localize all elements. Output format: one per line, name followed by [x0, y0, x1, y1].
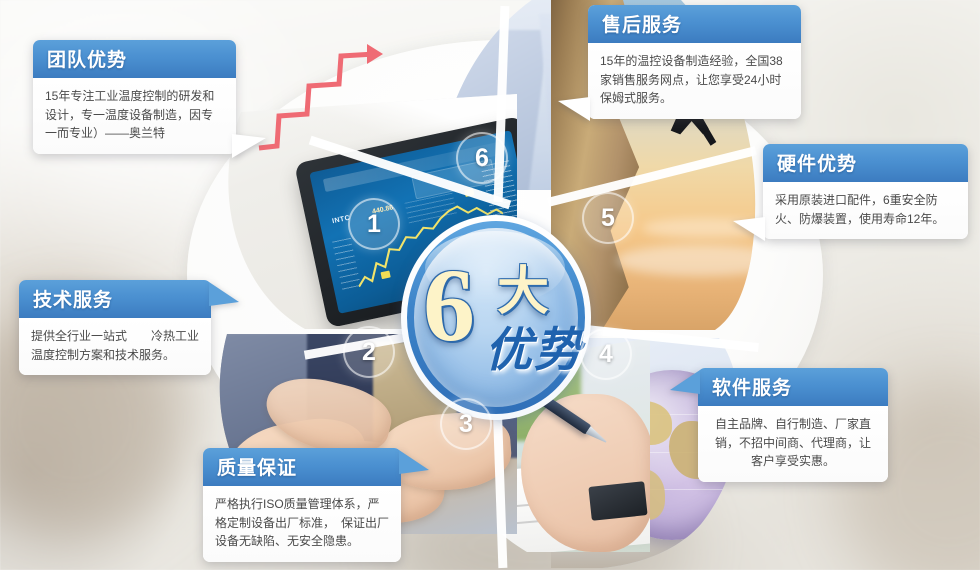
callout-title-software-service: 软件服务 — [698, 368, 888, 406]
callout-body-team-advantage: 15年专注工业温度控制的研发和设计，专一温度设备制造，因专一而专业）——奥兰特 — [33, 78, 236, 154]
segment-badge-6[interactable]: 6 — [456, 132, 508, 184]
segment-badge-3[interactable]: 3 — [440, 398, 492, 450]
infographic-canvas: INTC 440.86 — [0, 0, 980, 570]
logo-number-six: 6 — [423, 259, 475, 353]
callout-body-technical-service: 提供全行业一站式 冷热工业温度控制方案和技术服务。 — [19, 318, 211, 375]
callout-hardware-advantage[interactable]: 硬件优势 采用原装进口配件，6重安全防火、防爆装置，使用寿命12年。 — [763, 144, 968, 239]
callout-tail — [232, 134, 266, 158]
center-logo: 6 大 优势 — [401, 215, 591, 420]
callout-technical-service[interactable]: 技术服务 提供全行业一站式 冷热工业温度控制方案和技术服务。 — [19, 280, 211, 375]
callout-software-service[interactable]: 软件服务 自主品牌、自行制造、厂家直销，不招中间商、代理商，让客户享受实惠。 — [698, 368, 888, 482]
callout-tail — [399, 450, 429, 474]
red-trend-line-decoration — [255, 42, 385, 152]
callout-tail — [558, 97, 590, 121]
callout-quality-guarantee[interactable]: 质量保证 严格执行ISO质量管理体系，严格定制设备出厂标准， 保证出厂设备无缺陷… — [203, 448, 401, 562]
callout-body-quality-guarantee: 严格执行ISO质量管理体系，严格定制设备出厂标准， 保证出厂设备无缺陷、无安全隐… — [203, 486, 401, 562]
logo-text-youshi: 优势 — [485, 311, 583, 380]
segment-badge-1[interactable]: 1 — [348, 198, 400, 250]
segment-badge-4[interactable]: 4 — [580, 328, 632, 380]
callout-title-hardware-advantage: 硬件优势 — [763, 144, 968, 182]
callout-after-sales-service[interactable]: 售后服务 15年的温控设备制造经验，全国38家销售服务网点，让您享受24小时保姆… — [588, 5, 801, 119]
cloud-low — [616, 245, 767, 276]
callout-tail — [733, 217, 765, 241]
callout-tail — [670, 370, 700, 394]
callout-body-software-service: 自主品牌、自行制造、厂家直销，不招中间商、代理商，让客户享受实惠。 — [698, 406, 888, 482]
callout-title-technical-service: 技术服务 — [19, 280, 211, 318]
callout-title-after-sales-service: 售后服务 — [588, 5, 801, 43]
callout-tail — [209, 282, 239, 306]
callout-title-quality-guarantee: 质量保证 — [203, 448, 401, 486]
segment-badge-5[interactable]: 5 — [582, 192, 634, 244]
segment-badge-2[interactable]: 2 — [343, 326, 395, 378]
callout-title-team-advantage: 团队优势 — [33, 40, 236, 78]
callout-body-after-sales-service: 15年的温控设备制造经验，全国38家销售服务网点，让您享受24小时保姆式服务。 — [588, 43, 801, 119]
callout-body-hardware-advantage: 采用原装进口配件，6重安全防火、防爆装置，使用寿命12年。 — [763, 182, 968, 239]
callout-team-advantage[interactable]: 团队优势 15年专注工业温度控制的研发和设计，专一温度设备制造，因专一而专业）—… — [33, 40, 236, 154]
calculator-object — [588, 481, 647, 521]
